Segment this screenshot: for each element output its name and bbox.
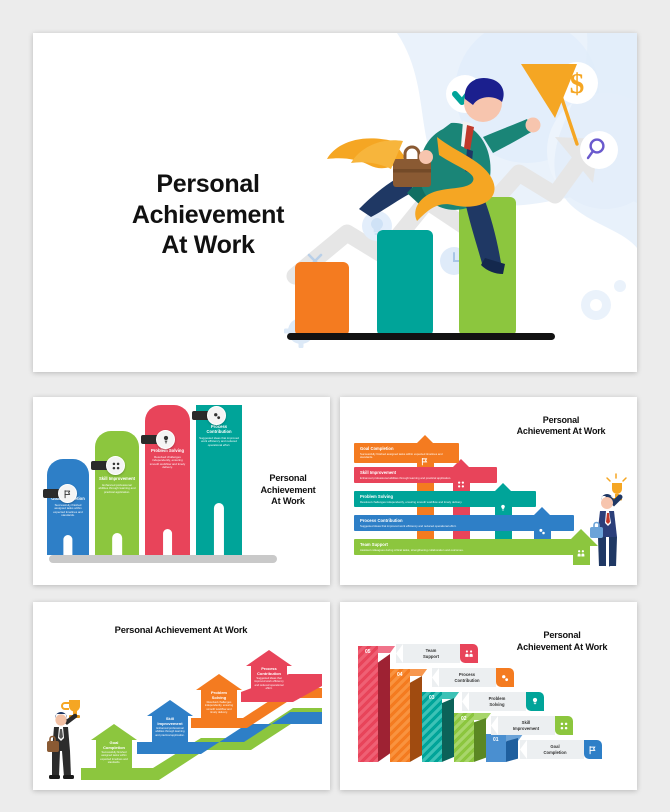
teamwork-icon <box>460 644 478 663</box>
slide-thumbnail-4[interactable]: Personal Achievement At Work Goal Comple… <box>33 602 330 790</box>
gear-icon <box>581 280 626 320</box>
flag-icon <box>58 484 77 503</box>
bar-number: 05 <box>365 649 371 655</box>
chip-label: Team Support <box>396 644 460 663</box>
businessman-with-trophy <box>47 694 87 780</box>
bar-face <box>390 669 410 762</box>
tag-description: Resolved challenges independently, ensur… <box>203 701 235 714</box>
slide-5-title: Personal Achievement At Work <box>498 630 626 653</box>
ribbon-title: Problem Solving <box>360 494 531 499</box>
ribbon-title: Skill Improvement <box>360 470 492 475</box>
tag-description: Enhanced professional abilities through … <box>154 727 186 737</box>
bar-number: 04 <box>397 672 403 678</box>
bar-caption: Problem Solving Resolved challenges inde… <box>145 449 190 470</box>
bar-description: Enhanced professional abilities through … <box>98 484 136 494</box>
ribbon-title: Process Contribution <box>360 518 569 523</box>
ribbon-goal-completion[interactable]: Goal Completion Successfully finished as… <box>354 443 459 463</box>
bar-face <box>422 692 442 762</box>
puzzle-icon <box>457 480 466 489</box>
ribbon-team-support[interactable]: Team Support Assisted colleagues during … <box>354 539 586 555</box>
slide-4-canvas: Personal Achievement At Work Goal Comple… <box>41 610 322 782</box>
bar-problem-solving[interactable]: Problem Solving Resolved challenges inde… <box>145 405 190 555</box>
businessman-with-trophy <box>590 473 629 573</box>
slide-2-canvas: Goal Completion Successfully finished as… <box>41 405 322 577</box>
tag-title: Problem Solving <box>203 691 235 700</box>
tag-title: Skill Improvement <box>154 717 186 726</box>
tag-description: Successfully finished assigned tasks wit… <box>98 751 130 764</box>
teamwork-icon <box>577 549 586 558</box>
bar-description: Successfully finished assigned tasks wit… <box>50 504 86 518</box>
bar-side <box>378 654 390 762</box>
bar-description: Suggested ideas that improved work effic… <box>199 437 239 447</box>
tag-goal-completion[interactable]: Goal Completion Successfully finished as… <box>91 724 137 768</box>
tag-body: Goal Completion Successfully finished as… <box>96 740 132 768</box>
flag-icon <box>584 740 602 759</box>
idea-hand-icon <box>526 692 544 711</box>
gears-hand-icon <box>496 668 514 687</box>
slide-thumbnail-2[interactable]: Goal Completion Successfully finished as… <box>33 397 330 585</box>
trophy-icon <box>62 700 80 718</box>
chip-label: Problem Solving <box>462 692 526 711</box>
magnifier-icon <box>580 131 618 169</box>
bar-face <box>358 646 378 762</box>
bar-notch <box>112 533 122 555</box>
idea-hand-icon <box>499 504 508 513</box>
tag-description: Suggested ideas that improved work effic… <box>253 677 285 690</box>
bar-title: Process Contribution <box>199 425 239 435</box>
slide-3-canvas: Personal Achievement At Work Goal Comple… <box>348 405 629 577</box>
tag-roof <box>196 674 242 690</box>
hero-illustration: $ <box>287 33 637 372</box>
slide-4-title: Personal Achievement At Work <box>71 624 291 636</box>
ribbon-description: Successfully finished assigned tasks wit… <box>360 453 454 460</box>
bar-caption: Skill Improvement Enhanced professional … <box>95 477 139 494</box>
slide-hero[interactable]: Personal Achievement At Work <box>33 33 637 372</box>
slide-3-title: Personal Achievement At Work <box>496 415 626 438</box>
bar-number: 01 <box>493 737 499 743</box>
bar-notch <box>163 529 173 555</box>
gears-hand-icon <box>538 527 547 536</box>
slide-2-floor <box>49 555 277 563</box>
chip-label: Skill Improvement <box>491 716 555 735</box>
tag-title: Process Contribution <box>253 667 285 676</box>
hero-baseline <box>287 333 555 340</box>
bar-01[interactable]: 01 <box>486 734 518 762</box>
puzzle-icon <box>555 716 573 735</box>
bar-description: Resolved challenges independently, ensur… <box>148 456 187 470</box>
bar-03[interactable]: 03 <box>422 692 454 762</box>
slide-2-title: Personal Achievement At Work <box>253 473 322 508</box>
chip-problem-solving[interactable]: Problem Solving <box>462 692 544 711</box>
tag-process-contribution[interactable]: Process Contribution Suggested ideas tha… <box>246 650 292 694</box>
tag-roof <box>147 700 193 716</box>
ribbon-problem-solving[interactable]: Problem Solving Resolved challenges inde… <box>354 491 536 507</box>
ribbon-title: Team Support <box>360 542 581 547</box>
hero-bar-2 <box>377 230 433 336</box>
bar-04[interactable]: 04 <box>390 669 422 762</box>
bar-caption: Process Contribution Suggested ideas tha… <box>196 425 242 447</box>
tag-body: Skill Improvement Enhanced professional … <box>152 716 188 744</box>
ribbon-description: Assisted colleagues during critical task… <box>360 549 581 552</box>
tag-skill-improvement[interactable]: Skill Improvement Enhanced professional … <box>147 700 193 744</box>
ribbon-description: Enhanced professional abilities through … <box>360 477 492 480</box>
bar-title: Problem Solving <box>148 449 187 454</box>
tag-body: Problem Solving Resolved challenges inde… <box>201 690 237 718</box>
chip-skill-improvement[interactable]: Skill Improvement <box>491 716 573 735</box>
bar-process-contribution[interactable]: Process Contribution Suggested ideas tha… <box>196 405 242 555</box>
ribbon-skill-improvement[interactable]: Skill Improvement Enhanced professional … <box>354 467 497 483</box>
bar-title: Skill Improvement <box>98 477 136 482</box>
sparkle-icon <box>607 474 626 481</box>
bar-side <box>506 738 518 762</box>
bar-number: 02 <box>461 716 467 722</box>
bar-side <box>410 676 422 762</box>
chip-label: Process Contribution <box>432 668 496 687</box>
flag-icon <box>421 457 430 466</box>
tag-roof <box>91 724 137 740</box>
bar-skill-improvement[interactable]: Skill Improvement Enhanced professional … <box>95 431 139 555</box>
puzzle-icon <box>106 456 125 475</box>
bar-notch <box>214 503 224 555</box>
bar-side <box>442 698 454 762</box>
bar-notch <box>63 535 72 555</box>
bar-05[interactable]: 05 <box>358 646 390 762</box>
slide-thumbnail-5[interactable]: Personal Achievement At Work 05 04 03 02… <box>340 602 637 790</box>
hero-bar-1 <box>295 262 349 336</box>
slide-thumbnail-3[interactable]: Personal Achievement At Work Goal Comple… <box>340 397 637 585</box>
tag-roof <box>246 650 292 666</box>
gears-hand-icon <box>207 406 226 425</box>
tag-problem-solving[interactable]: Problem Solving Resolved challenges inde… <box>196 674 242 718</box>
tag-title: Goal Completion <box>98 741 130 750</box>
ribbon-title: Goal Completion <box>360 446 454 451</box>
chip-process-contribution[interactable]: Process Contribution <box>432 668 514 687</box>
bar-02[interactable]: 02 <box>454 713 486 762</box>
chip-label: Goal Completion <box>520 740 584 759</box>
tag-body: Process Contribution Suggested ideas tha… <box>251 666 287 694</box>
slide-5-canvas: Personal Achievement At Work 05 04 03 02… <box>348 610 629 782</box>
chip-goal-completion[interactable]: Goal Completion <box>520 740 602 759</box>
bar-goal-completion[interactable]: Goal Completion Successfully finished as… <box>47 459 89 555</box>
bar-number: 03 <box>429 695 435 701</box>
chip-team-support[interactable]: Team Support <box>396 644 478 663</box>
idea-hand-icon <box>156 430 175 449</box>
bar-side <box>474 718 486 762</box>
